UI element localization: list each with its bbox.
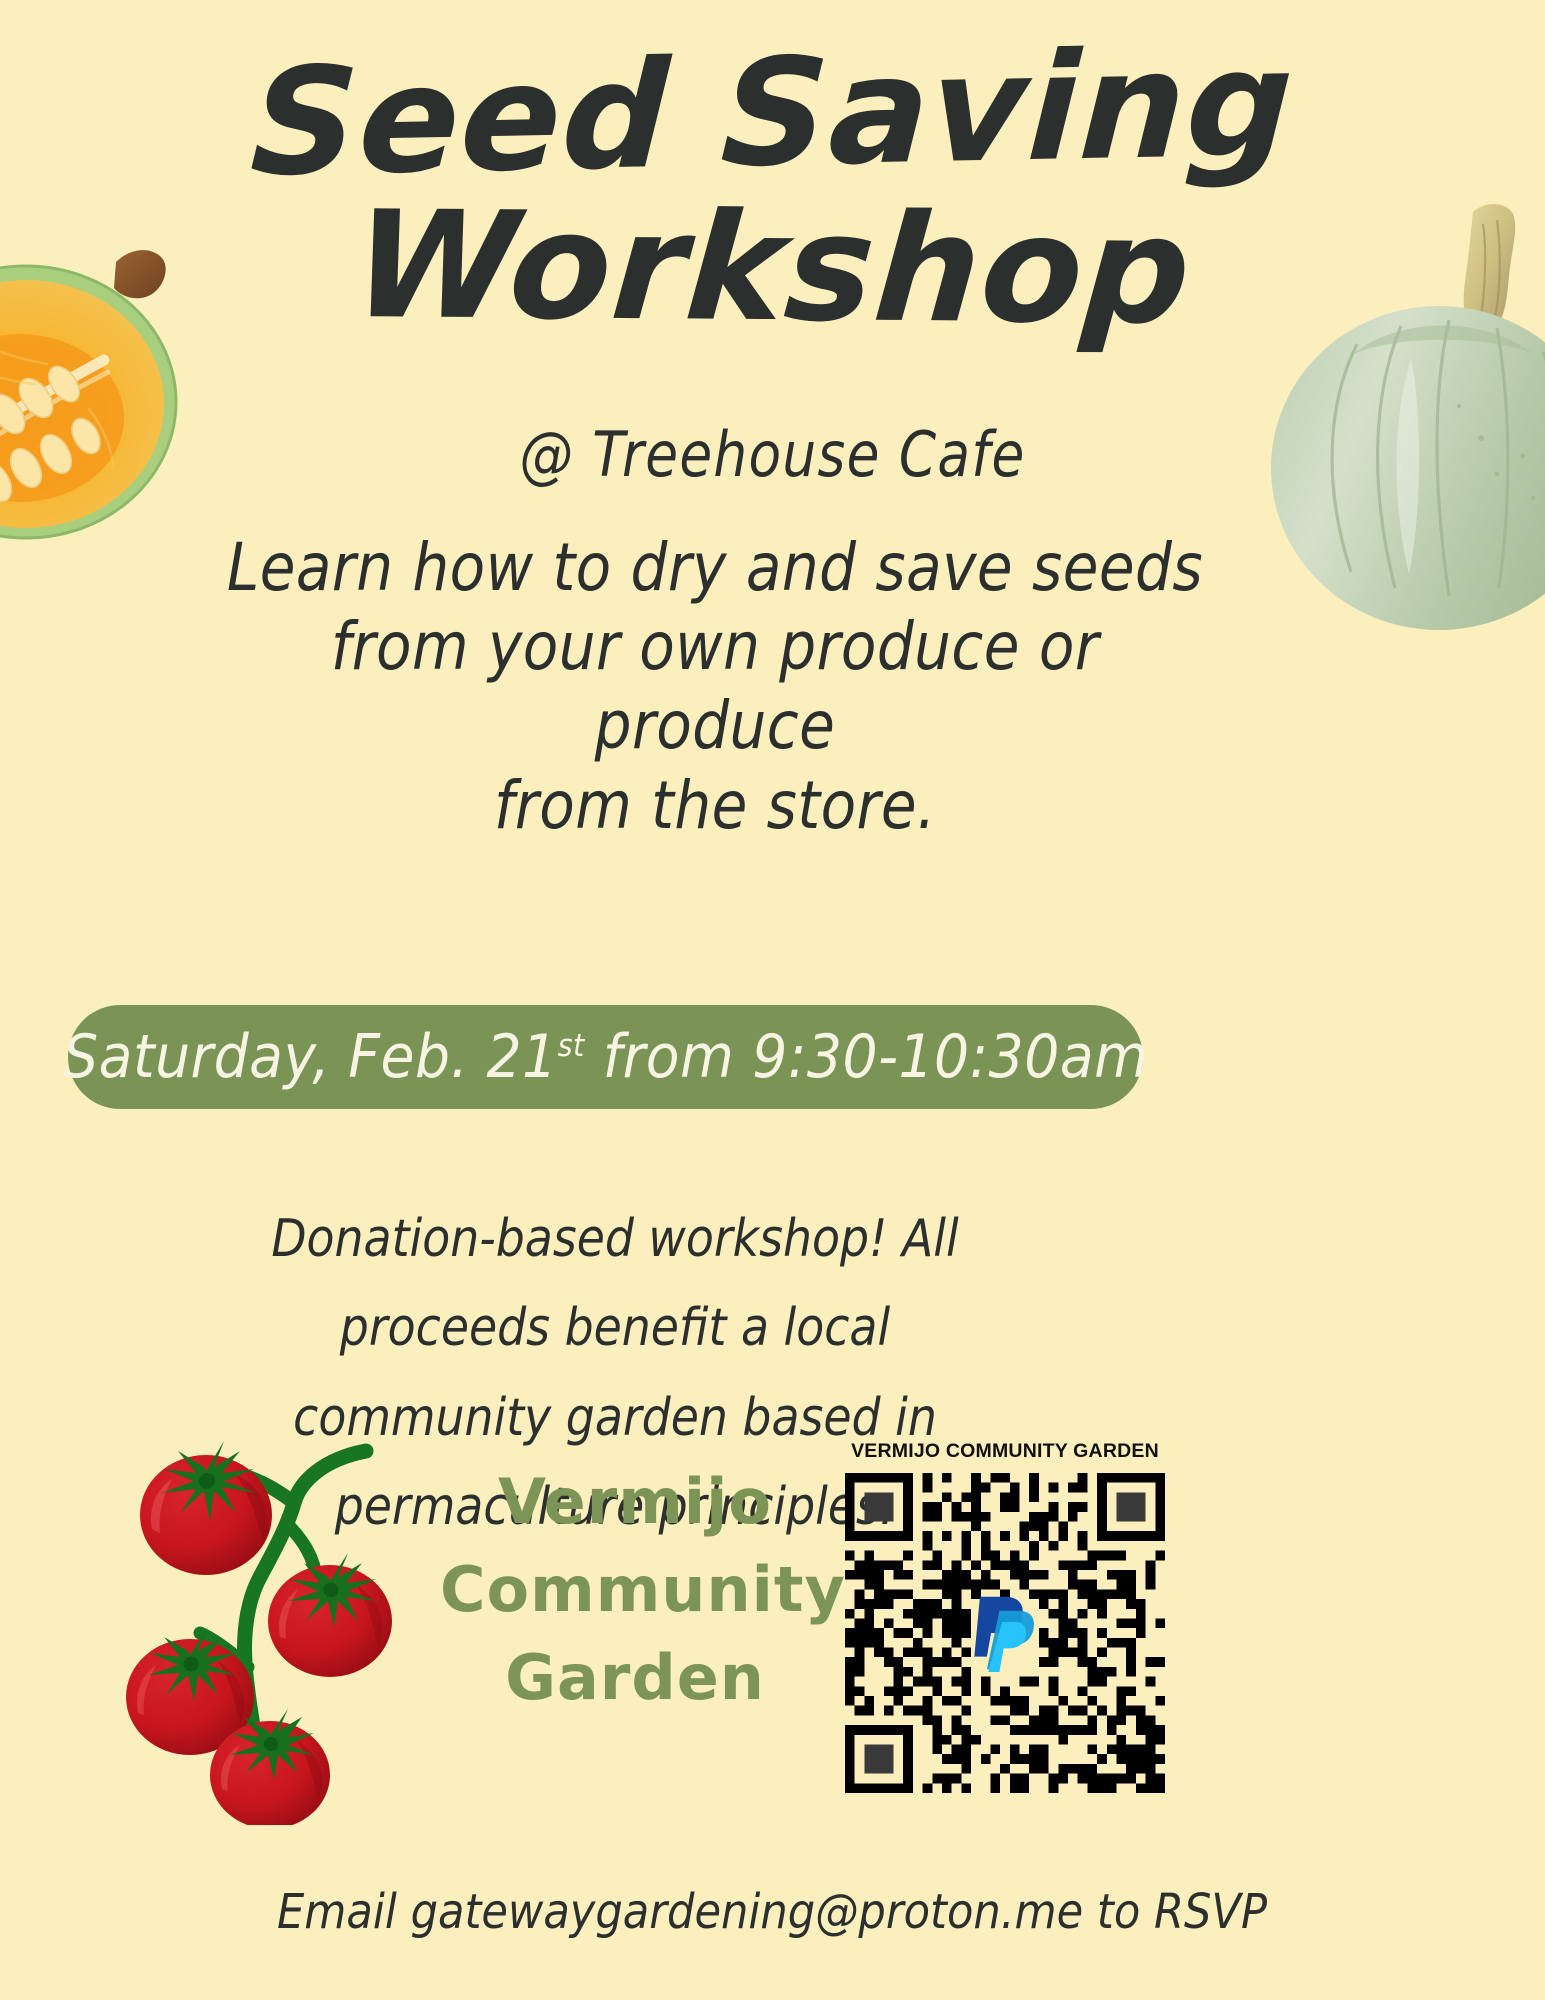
title-line-1: Seed Saving xyxy=(0,23,1545,204)
garden-logo-text: Vermijo Community Garden xyxy=(440,1458,830,1722)
rsvp-email-line: Email gatewaygardening@proton.me to RSVP xyxy=(0,1884,1545,1940)
qr-donation-block[interactable]: VERMIJO COMMUNITY GARDEN xyxy=(840,1440,1170,1793)
date-time-text: Saturday, Feb. 21st from 9:30-10:30am xyxy=(63,1022,1148,1092)
description-line-1: Learn how to dry and save seeds xyxy=(218,528,1212,607)
tomato-3 xyxy=(126,1627,254,1755)
rsvp-email-text: Email gatewaygardening@proton.me to RSVP xyxy=(277,1884,1267,1940)
description-block: Learn how to dry and save seeds from you… xyxy=(150,528,1280,845)
venue-text: @ Treehouse Cafe xyxy=(108,418,1437,491)
donation-line-1: Donation-based workshop! All proceeds be… xyxy=(166,1195,1064,1374)
garden-logo-line-3: Garden xyxy=(440,1634,830,1722)
tomato-4 xyxy=(210,1709,330,1825)
date-prefix: Saturday, Feb. 21 xyxy=(63,1022,557,1092)
description-line-2: from your own produce or produce xyxy=(218,607,1212,765)
qr-code-image[interactable] xyxy=(845,1473,1165,1793)
venue-label: @ Treehouse Cafe xyxy=(519,418,1025,491)
date-ordinal-suffix: st xyxy=(557,1028,584,1064)
page-title: Seed Saving Workshop xyxy=(0,38,1545,344)
tomato-2 xyxy=(268,1553,392,1677)
title-line-2: Workshop xyxy=(0,188,1545,350)
description-line-3: from the store. xyxy=(218,766,1212,845)
garden-logo-line-1: Vermijo xyxy=(440,1458,830,1546)
time-range: from 9:30-10:30am xyxy=(584,1022,1148,1092)
paypal-logo-icon xyxy=(971,1594,1039,1672)
date-time-banner: Saturday, Feb. 21st from 9:30-10:30am xyxy=(68,1005,1143,1109)
garden-logo-line-2: Community xyxy=(440,1546,830,1634)
flyer-canvas: Seed Saving Workshop @ Treehouse Cafe Le… xyxy=(0,0,1545,2000)
qr-code-label: VERMIJO COMMUNITY GARDEN xyxy=(840,1440,1170,1463)
